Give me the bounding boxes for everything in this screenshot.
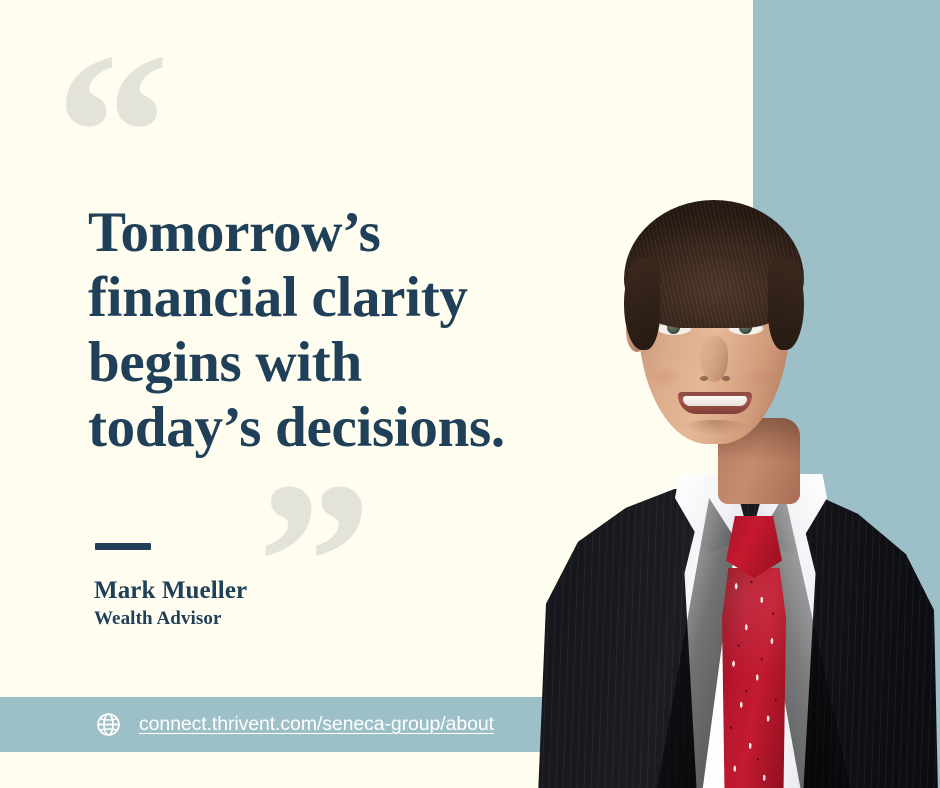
hair-side-left <box>624 258 660 350</box>
advisor-portrait <box>520 186 940 788</box>
necktie-pattern <box>722 568 786 788</box>
nostril-right <box>722 376 730 381</box>
advisor-name: Mark Mueller <box>94 576 247 606</box>
cheek-left <box>648 366 682 388</box>
promo-card: “ “ Tomorrow’s financial clarity begins … <box>0 0 940 788</box>
url-band[interactable]: connect.thrivent.com/seneca-group/about <box>0 697 558 752</box>
chin-shadow <box>680 420 750 436</box>
globe-icon <box>96 712 121 737</box>
mouth <box>678 392 752 414</box>
hair-side-right <box>768 258 804 350</box>
nostril-left <box>700 376 708 381</box>
necktie-body <box>722 568 786 788</box>
advisor-role: Wealth Advisor <box>94 606 247 632</box>
attribution-divider <box>95 543 151 550</box>
website-url[interactable]: connect.thrivent.com/seneca-group/about <box>139 713 494 736</box>
attribution: Mark Mueller Wealth Advisor <box>94 576 247 632</box>
teeth <box>683 396 747 406</box>
cheek-right <box>744 366 778 388</box>
